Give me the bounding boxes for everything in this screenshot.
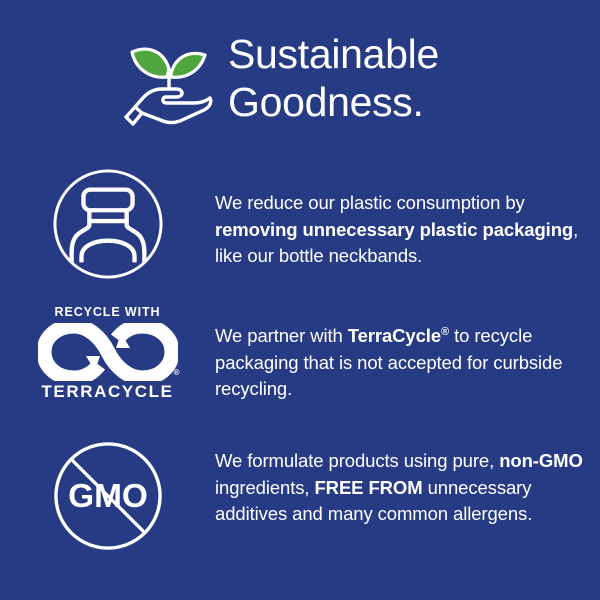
text-segment-bold: FREE FROM xyxy=(314,477,422,498)
terracycle-top-label: RECYCLE WITH xyxy=(55,305,161,319)
text-segment-bold: removing unnecessary plastic packaging xyxy=(215,219,573,240)
no-gmo-icon-label: GMO xyxy=(68,478,148,515)
benefit-text-plastic-reduction: We reduce our plastic consumption by rem… xyxy=(215,168,600,270)
no-gmo-icon: GMO xyxy=(52,440,164,557)
hand-holding-seedling-icon xyxy=(118,31,218,131)
bottle-no-neckband-icon xyxy=(52,168,164,285)
icon-cell xyxy=(0,168,215,285)
header: Sustainable Goodness. xyxy=(0,0,600,155)
terracycle-recycle-logo: RECYCLE WITH ® TERRACYCLE xyxy=(33,305,183,402)
text-segment-bold: non-GMO xyxy=(499,450,583,471)
page-title: Sustainable Goodness. xyxy=(228,30,439,126)
text-segment: ingredients, xyxy=(215,477,314,498)
text-segment: We partner with xyxy=(215,325,348,346)
benefit-text-terracycle: We partner with TerraCycle® to recycle p… xyxy=(215,305,600,403)
icon-cell: RECYCLE WITH ® TERRACYCLE xyxy=(0,305,215,402)
benefit-row-terracycle: RECYCLE WITH ® TERRACYCLE We partner wit… xyxy=(0,305,600,403)
benefit-row-non-gmo: GMO We formulate products using pure, no… xyxy=(0,440,600,557)
sustainable-goodness-infographic: { "theme": { "background": "#273B84", "f… xyxy=(0,0,600,600)
benefit-text-non-gmo: We formulate products using pure, non-GM… xyxy=(215,440,600,528)
text-segment-bold: TerraCycle xyxy=(348,325,441,346)
icon-cell: GMO xyxy=(0,440,215,557)
text-segment: We reduce our plastic consumption by xyxy=(215,192,525,213)
registered-mark: ® xyxy=(441,326,449,338)
text-segment: We formulate products using pure, xyxy=(215,450,499,471)
terracycle-infinity-arrows-icon: ® xyxy=(38,323,178,379)
benefit-row-plastic-reduction: We reduce our plastic consumption by rem… xyxy=(0,168,600,285)
registered-mark: ® xyxy=(174,369,180,377)
terracycle-bottom-label: TERRACYCLE xyxy=(41,382,173,402)
